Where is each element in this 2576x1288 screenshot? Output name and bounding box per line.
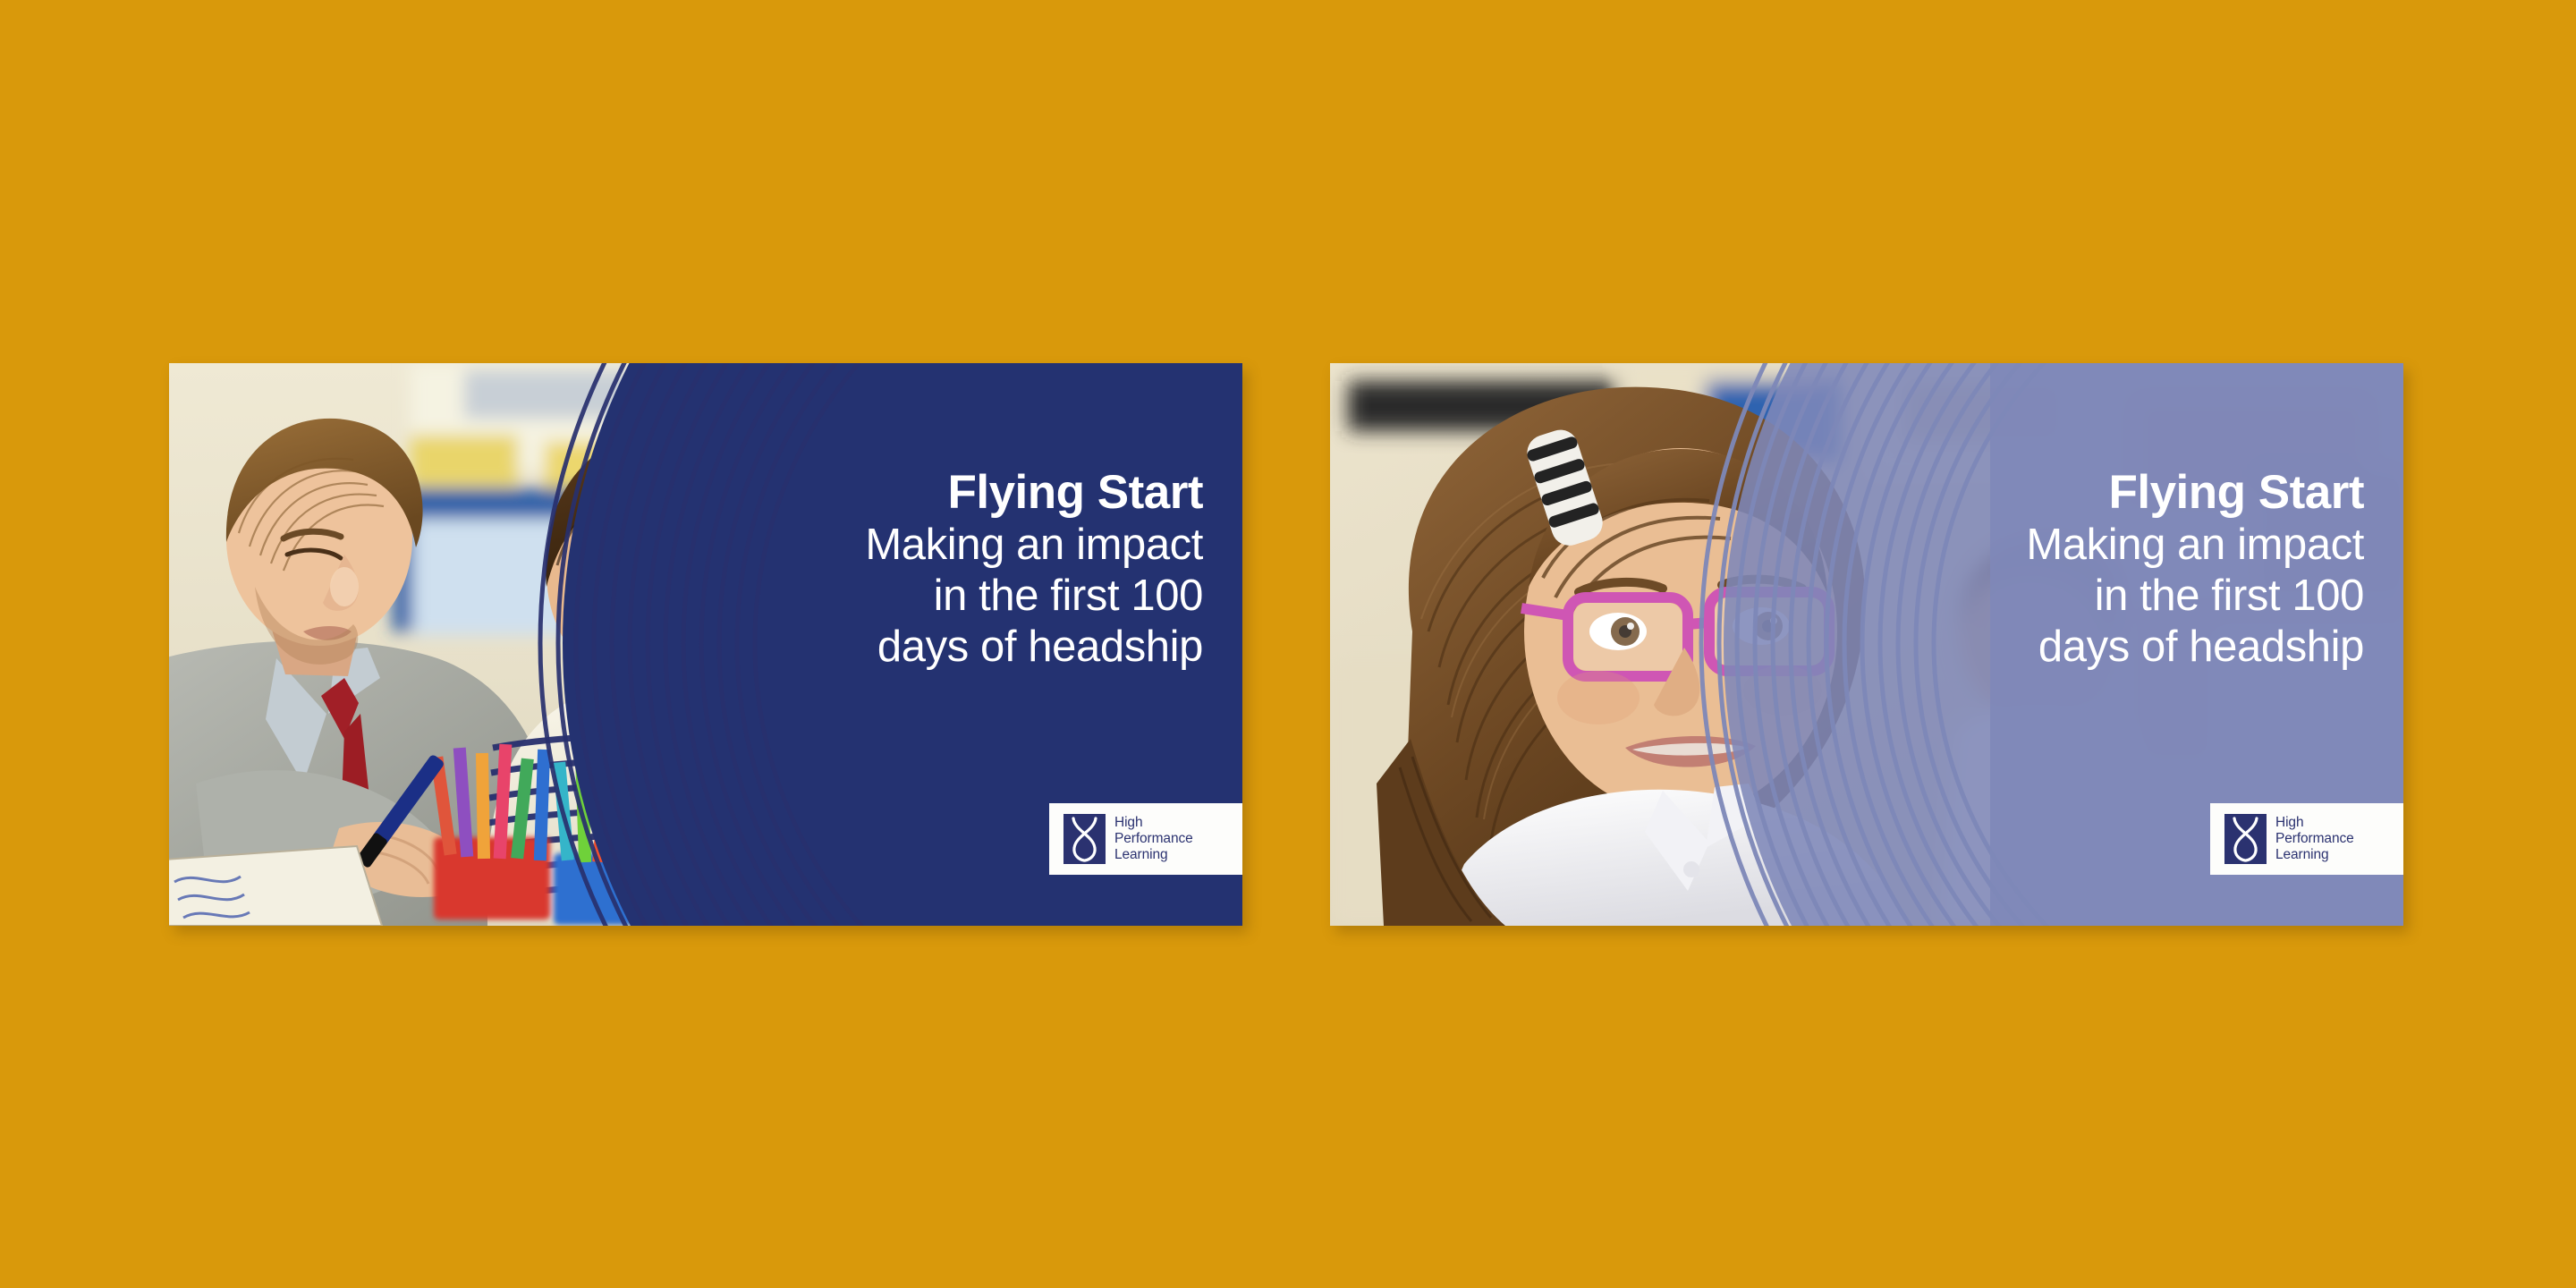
- banner-card-navy[interactable]: Flying Start Making an impact in the fir…: [169, 363, 1242, 926]
- page-canvas: Flying Start Making an impact in the fir…: [0, 0, 2576, 1288]
- logo-line-2: Performance: [1114, 831, 1193, 847]
- hpl-logo-lockup[interactable]: High Performance Learning: [1049, 803, 1242, 875]
- logo-line-3: Learning: [1114, 847, 1193, 863]
- logo-line-1: High: [1114, 815, 1193, 831]
- hpl-logo-wordmark: High Performance Learning: [2275, 815, 2354, 863]
- high-performance-learning-helix-mark: [1063, 814, 1106, 864]
- high-performance-learning-helix-mark: [2224, 814, 2267, 864]
- hpl-logo-wordmark: High Performance Learning: [1114, 815, 1193, 863]
- banner-card-lavender[interactable]: Flying Start Making an impact in the fir…: [1330, 363, 2403, 926]
- logo-line-1: High: [2275, 815, 2354, 831]
- hpl-logo-lockup[interactable]: High Performance Learning: [2210, 803, 2403, 875]
- logo-line-3: Learning: [2275, 847, 2354, 863]
- logo-line-2: Performance: [2275, 831, 2354, 847]
